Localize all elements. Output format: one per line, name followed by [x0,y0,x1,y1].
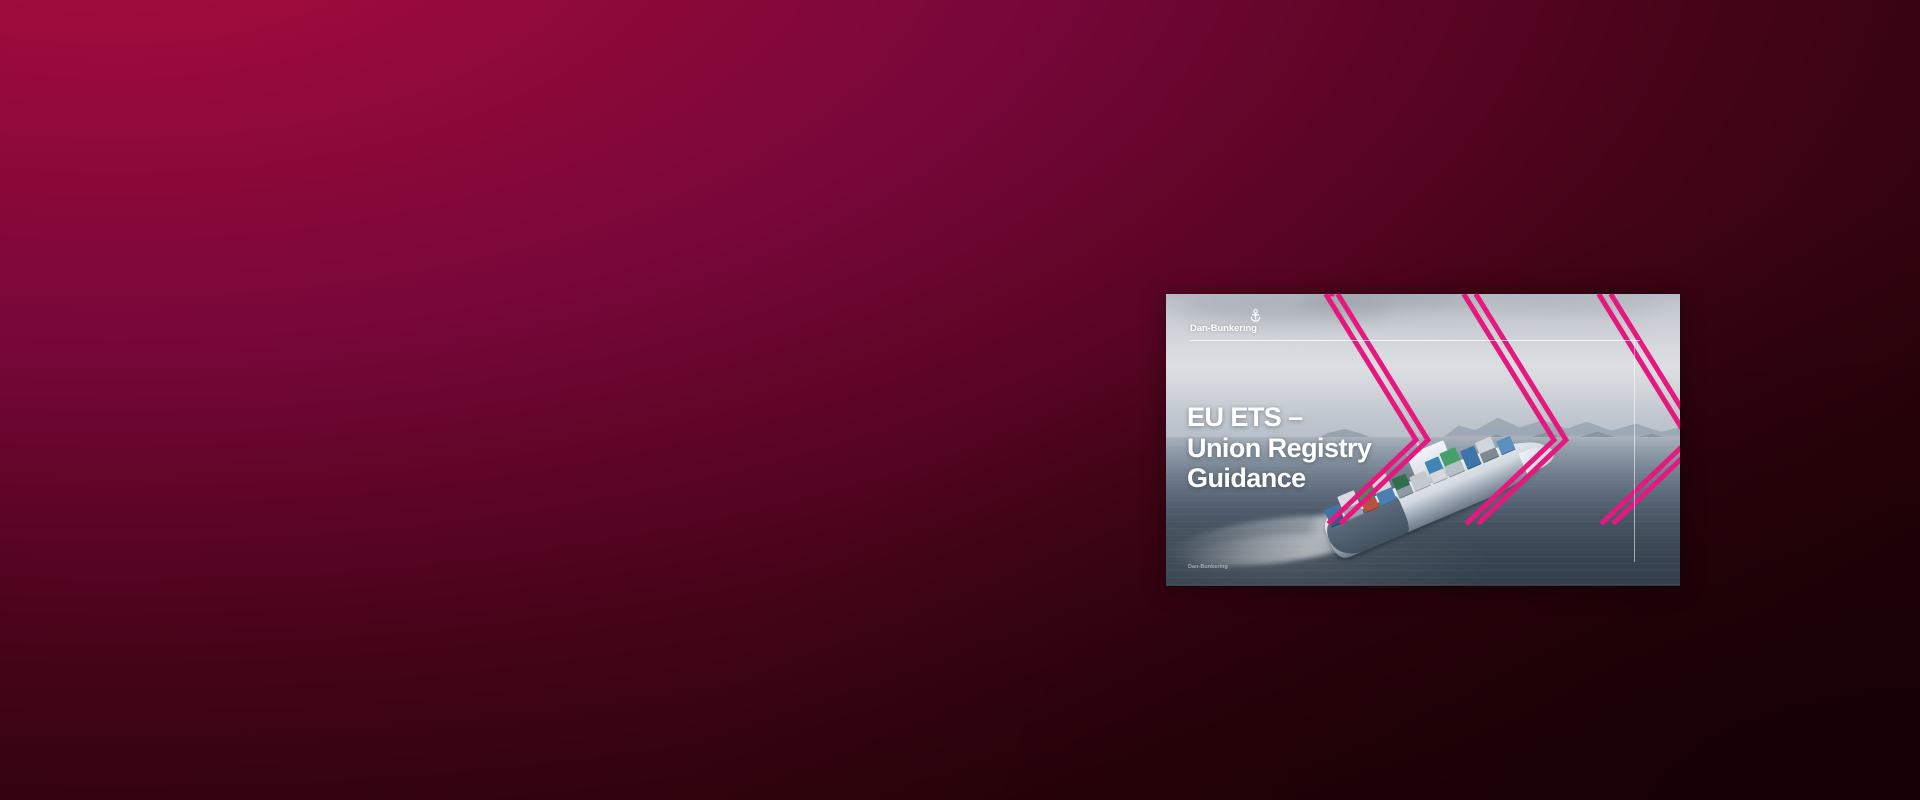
brand-wordmark: Dan-Bunkering [1190,324,1320,334]
footer-caption: Dan-Bunkering [1188,565,1228,570]
vertical-divider [1634,340,1635,562]
page-background: Dan-Bunkering EU ETS – Union Registry Gu… [0,0,1920,800]
document-cover-card[interactable]: Dan-Bunkering EU ETS – Union Registry Gu… [1166,294,1680,586]
cloud-shape [1300,294,1475,311]
cover-title: EU ETS – Union Registry Guidance [1187,402,1371,494]
brand-logo[interactable]: Dan-Bunkering [1190,309,1320,334]
anchor-icon [1249,309,1262,322]
cloud-shape [1454,297,1660,315]
header-divider [1190,340,1640,341]
cloud-shape [1413,321,1649,335]
